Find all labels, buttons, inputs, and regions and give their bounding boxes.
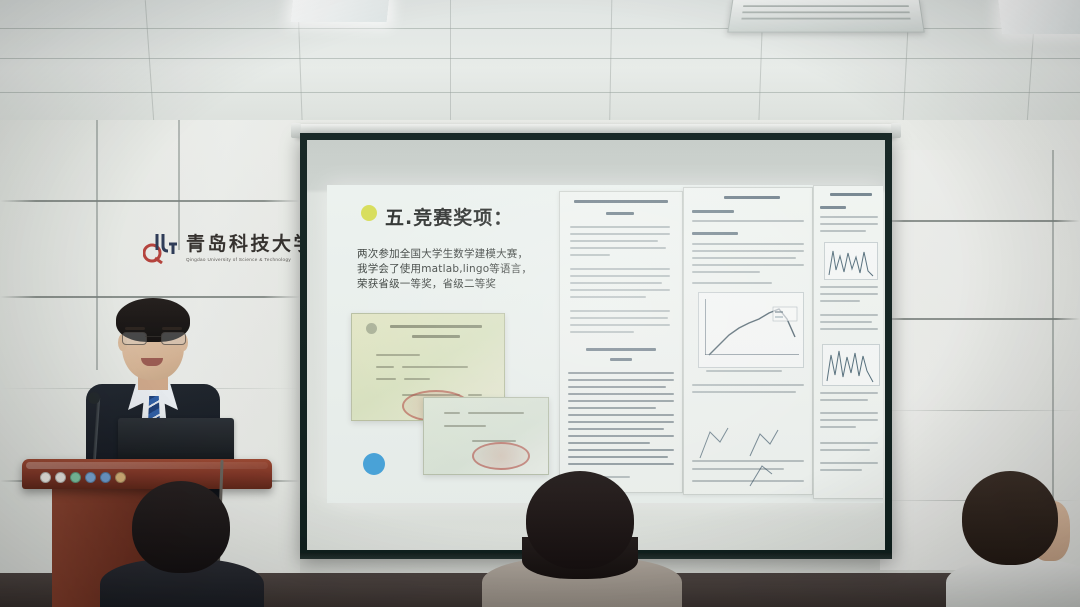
certificate-image-2 <box>423 397 549 475</box>
bullet-dot-icon <box>361 205 377 221</box>
recessed-light-left <box>291 0 390 22</box>
microphone-icon <box>88 392 100 404</box>
air-vent <box>727 0 924 33</box>
document-page-waveforms <box>813 185 883 499</box>
lecture-hall-photo: 青岛科技大学 Qingdao University of Science & T… <box>0 0 1080 607</box>
audience-member-center <box>482 471 682 607</box>
glasses-icon <box>122 332 184 344</box>
document-page-abstract <box>559 191 683 493</box>
document-page-line-chart <box>683 187 813 495</box>
slide-title: 五.竞赛奖项： <box>385 203 513 230</box>
line-chart-1 <box>698 292 804 368</box>
slide-body-line-1: 两次参加全国大学生数学建模大赛， <box>357 247 547 262</box>
podium-button-4[interactable] <box>85 472 96 483</box>
podium-button-3[interactable] <box>70 472 81 483</box>
audience-member-right <box>946 467 1080 607</box>
waveform-chart-2 <box>822 344 880 386</box>
podium-button-2[interactable] <box>55 472 66 483</box>
laptop <box>118 418 234 460</box>
slide-body-text: 两次参加全国大学生数学建模大赛， 我学会了使用matlab,lingo等语言， … <box>357 247 547 292</box>
presentation-slide: 五.竞赛奖项： 两次参加全国大学生数学建模大赛， 我学会了使用matlab,li… <box>327 185 883 503</box>
qust-logo-mark <box>143 232 179 264</box>
waveform-chart-1 <box>824 242 878 280</box>
university-name-cn: 青岛科技大学 <box>186 235 315 254</box>
slide-body-line-3: 荣获省级一等奖，省级二等奖 <box>357 277 547 292</box>
certificate-seal-2 <box>472 442 530 470</box>
podium-button-1[interactable] <box>40 472 51 483</box>
university-name-en: Qingdao University of Science & Technolo… <box>186 257 315 262</box>
audience-member-left <box>96 477 266 607</box>
slide-body-line-2: 我学会了使用matlab,lingo等语言， <box>357 262 547 277</box>
recessed-light-right <box>998 0 1080 34</box>
blue-dot-decor <box>363 453 385 475</box>
